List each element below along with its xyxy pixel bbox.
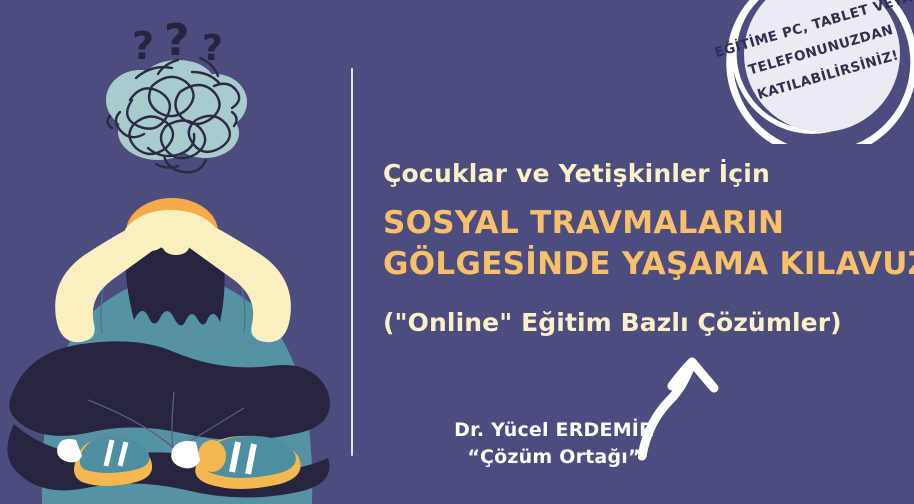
availability-badge: EĞİTİME PC, TABLET VEYA TELEFONUNUZDAN K… — [702, 0, 914, 144]
presenter-name: Dr. Yücel ERDEMİR — [444, 419, 664, 442]
kicker-text: Çocuklar ve Yetişkinler İçin — [383, 160, 883, 189]
headline-block: Çocuklar ve Yetişkinler İçin SOSYAL TRAV… — [383, 160, 883, 337]
poster-canvas: ? ? ? — [0, 0, 914, 504]
seated-person-illustration: ? ? ? — [0, 0, 340, 504]
subtitle-text: ("Online" Eğitim Bazlı Çözümler) — [383, 309, 883, 338]
headline-line-2: GÖLGESİNDE YAŞAMA KILAVUZU — [383, 244, 883, 285]
svg-text:?: ? — [202, 28, 223, 69]
presenter-role: “Çözüm Ortağı” — [444, 446, 664, 469]
headline-line-1: SOSYAL TRAVMALARIN — [383, 203, 883, 244]
svg-text:?: ? — [164, 15, 190, 66]
presenter-signature: Dr. Yücel ERDEMİR “Çözüm Ortağı” — [444, 419, 664, 469]
svg-text:?: ? — [132, 24, 154, 68]
question-marks-icon: ? ? ? — [132, 15, 223, 69]
person-body — [7, 198, 329, 504]
vertical-divider — [351, 68, 353, 456]
